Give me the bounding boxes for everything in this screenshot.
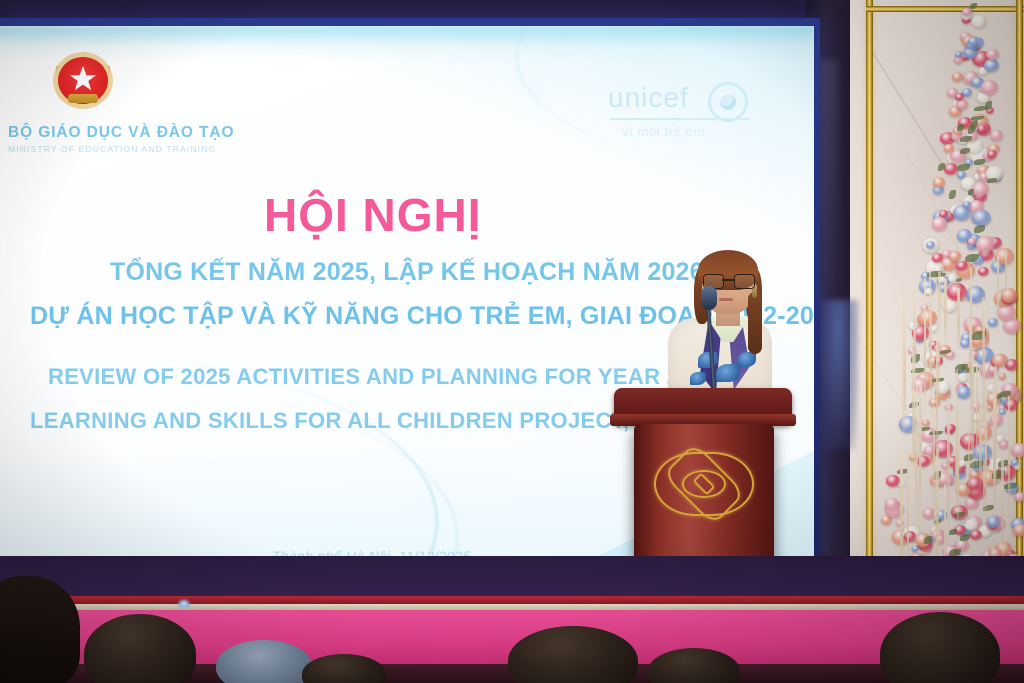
flower-foliage (960, 148, 969, 154)
glasses-lens-right (734, 274, 755, 289)
flower-column: 1 (876, 0, 1024, 610)
speaker-glasses (703, 274, 753, 287)
flower-blossom (972, 15, 987, 28)
hanging-flower-strand (957, 288, 959, 349)
flower-foliage (970, 3, 978, 9)
flower-blossom (990, 130, 1002, 141)
flower-foliage (957, 164, 971, 171)
speaker-mouth (719, 298, 733, 301)
slide-subtitle-en-1: REVIEW OF 2025 ACTIVITIES AND PLANNING F… (48, 364, 717, 390)
unicef-tagline: vì mọi trẻ em (622, 124, 705, 139)
unicef-divider (610, 118, 750, 120)
flower-foliage (971, 116, 984, 120)
flower-blossom (963, 201, 971, 208)
flower-blossom (1011, 459, 1019, 466)
hanging-flower-strand (919, 387, 921, 483)
flower-foliage (957, 124, 964, 131)
gold-wall-trim-left (866, 0, 873, 600)
speaker-braid (748, 292, 762, 354)
flower-blossom (984, 59, 999, 72)
flower-blossom (976, 236, 995, 253)
flower-blossom (999, 373, 1006, 380)
photo-scene: BỘ GIÁO DỤC VÀ ĐÀO TẠO MINISTRY OF EDUCA… (0, 0, 1024, 683)
flower-blossom (987, 150, 998, 160)
background-person-silhouette (818, 300, 858, 450)
flower-foliage (956, 278, 962, 282)
hanging-flower-strand (985, 389, 987, 526)
unicef-globe-inner (718, 92, 738, 112)
hanging-flower-strand (971, 353, 973, 399)
flower-blossom (944, 144, 954, 153)
ministry-name-vi: BỘ GIÁO DỤC VÀ ĐÀO TẠO (8, 124, 234, 142)
hanging-flower-strand (982, 297, 984, 386)
flower-blossom (932, 253, 943, 263)
slide-title: HỘI NGHỊ (264, 192, 482, 238)
emblem-base (68, 94, 98, 103)
slide-subtitle-vi-1: TỔNG KẾT NĂM 2025, LẬP KẾ HOẠCH NĂM 2026 (110, 258, 704, 287)
hanging-flower-strand (913, 287, 915, 382)
audience-head-3 (216, 640, 312, 683)
flower-blossom (977, 125, 987, 133)
flower-blossom (968, 37, 979, 47)
flower-blossom (978, 267, 989, 276)
jacket-flower-4 (690, 372, 706, 385)
flower-foliage (949, 190, 955, 199)
hanging-flower-strand (938, 271, 940, 329)
jacket-flower-1 (698, 352, 718, 368)
hanging-flower-strand (947, 398, 949, 547)
hanging-flower-strand (976, 362, 978, 467)
flower-blossom (952, 72, 963, 82)
hanging-flower-strand (1008, 396, 1010, 527)
flower-blossom (965, 519, 979, 531)
flower-foliage (974, 225, 985, 233)
flower-blossom (986, 49, 999, 61)
flower-blossom (926, 241, 935, 249)
flower-blossom (972, 210, 990, 226)
flower-blossom (955, 93, 964, 101)
flower-foliage (960, 534, 970, 541)
flower-foliage (987, 178, 998, 183)
stage-light-spot (178, 600, 190, 608)
flower-blossom (972, 182, 989, 197)
flower-blossom (933, 177, 945, 188)
flower-blossom (948, 274, 957, 282)
hanging-flower-strand (979, 395, 981, 489)
unicef-logo: unicef vì mọi trẻ em (608, 84, 798, 112)
hanging-flower-strand (938, 328, 940, 410)
flower-blossom (956, 261, 968, 272)
flower-blossom (958, 373, 968, 382)
flower-blossom (1011, 443, 1024, 458)
glasses-bridge (722, 279, 734, 281)
flower-blossom (970, 530, 982, 541)
flower-blossom (1001, 288, 1018, 303)
flower-blossom (1014, 492, 1024, 502)
flower-blossom (968, 238, 975, 244)
hanging-flower-strand (969, 320, 971, 401)
gold-medallion-ornament (654, 452, 754, 516)
jacket-flower-2 (716, 364, 740, 382)
stage-red-trim (0, 596, 1024, 604)
jacket-flower-3 (738, 352, 756, 367)
flower-foliage (949, 529, 957, 535)
hanging-flower-strand (944, 278, 946, 343)
hanging-flower-strand (924, 278, 926, 419)
flower-foliage (1004, 483, 1017, 489)
hanging-flower-strand (993, 383, 995, 525)
flower-blossom (981, 80, 998, 95)
ministry-name-en: MINISTRY OF EDUCATION AND TRAINING (8, 144, 216, 154)
flower-blossom (932, 217, 947, 230)
microphone-head-icon (701, 286, 717, 310)
flower-blossom (962, 8, 972, 17)
flower-blossom (1013, 524, 1024, 537)
vietnam-national-emblem (54, 50, 112, 108)
flower-blossom (922, 420, 930, 427)
unicef-wordmark: unicef (608, 84, 798, 112)
flower-blossom (1005, 399, 1019, 411)
flower-blossom (962, 88, 972, 97)
unicef-globe-icon (708, 82, 748, 122)
